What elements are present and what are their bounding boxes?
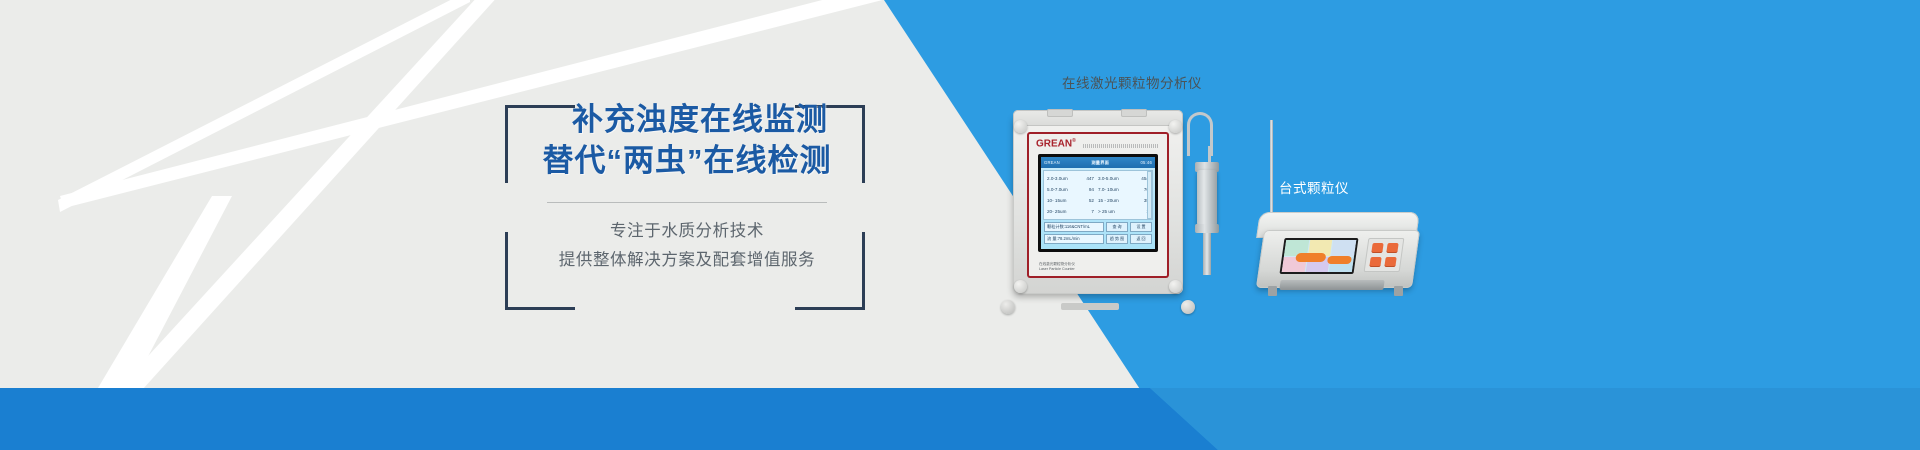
sensor-cap-bottom	[1195, 224, 1219, 233]
subtitle-line-2: 提供整体解决方案及配套增值服务	[497, 246, 877, 275]
lcd-control-row-2: 流 量:78.2mL/min 趋 势 图 返 回	[1044, 234, 1152, 244]
table-row: 2.0-3.0um 447 3.0-5.0um 454	[1047, 173, 1149, 184]
headline-line-2: 替代“两虫”在线检测	[497, 140, 877, 181]
bench-lcd-highlight-2	[1327, 256, 1352, 264]
cell-count-1: 447	[1082, 173, 1098, 184]
cell-range-1: 2.0-3.0um	[1047, 173, 1082, 184]
bench-stand-rod	[1270, 120, 1273, 216]
bench-key-2[interactable]	[1386, 243, 1398, 253]
bench-lcd-tile-3	[1331, 240, 1356, 256]
cell-count-1: 7	[1082, 206, 1098, 217]
sensor-tube-assembly	[1180, 112, 1220, 290]
bench-lcd-highlight-1	[1295, 253, 1326, 262]
lcd-statusbar: GREAN 测量界面 05:46	[1041, 157, 1155, 168]
headline-card: 补充浊度在线监测 替代“两虫”在线检测 专注于水质分析技术 提供整体解决方案及配…	[505, 105, 865, 310]
cell-range-1: 20- 25um	[1047, 206, 1082, 217]
online-laser-particle-analyzer: GREAN® GREAN 测量界面 05:46 2.0-3.0um 447 3.…	[1005, 102, 1191, 306]
table-row: 5.0-7.0um 94 7.0- 10um 76	[1047, 184, 1149, 195]
bench-foot-right	[1394, 286, 1403, 296]
cell-range-2: 15 - 20um	[1098, 195, 1133, 206]
cell-range-1: 10- 15um	[1047, 195, 1082, 206]
lcd-button-back[interactable]: 返 回	[1130, 234, 1152, 244]
table-row: 10- 15um 52 15 - 20um 35	[1047, 195, 1149, 206]
lcd-field-particle-count: 颗粒计数:116&CNT/mL	[1044, 222, 1104, 232]
bench-foot-left	[1268, 286, 1277, 296]
table-row: 20- 25um 7 > 25 um 1	[1047, 206, 1149, 217]
cell-range-2: 7.0- 10um	[1098, 184, 1133, 195]
analyzer-display-bezel: GREAN 测量界面 05:46 2.0-3.0um 447 3.0-5.0um…	[1038, 154, 1158, 252]
analyzer-clip-right	[1121, 109, 1147, 117]
analyzer-front-panel: GREAN® GREAN 测量界面 05:46 2.0-3.0um 447 3.…	[1027, 132, 1169, 278]
analyzer-brand: GREAN®	[1036, 138, 1076, 149]
lcd-status-right: 05:46	[1141, 160, 1152, 165]
sensor-housing	[1197, 170, 1217, 226]
lcd-control-row-1: 颗粒计数:116&CNT/mL 查 询 设 置	[1044, 222, 1152, 232]
analyzer-screw-top-left	[1014, 120, 1027, 133]
bench-key-3[interactable]	[1369, 257, 1381, 267]
bench-keypad[interactable]	[1364, 238, 1405, 272]
analyzer-screw-bottom-left	[1014, 280, 1027, 293]
cell-count-1: 52	[1082, 195, 1098, 206]
lcd-field-flowrate: 流 量:78.2mL/min	[1044, 234, 1104, 244]
lcd-measurement-table: 2.0-3.0um 447 3.0-5.0um 454 5.0-7.0um 94…	[1043, 170, 1153, 220]
analyzer-brand-mark: ®	[1072, 138, 1076, 144]
sensor-outlet-pipe	[1203, 233, 1211, 275]
cell-count-1: 94	[1082, 184, 1098, 195]
bench-lcd[interactable]	[1282, 240, 1356, 272]
headline-line-1: 补充浊度在线监测	[497, 99, 877, 140]
analyzer-clip-left	[1047, 109, 1073, 117]
analyzer-cable-gland-right	[1181, 300, 1195, 314]
subtitle-line-1: 专注于水质分析技术	[497, 217, 877, 246]
lcd-status-left: GREAN	[1044, 160, 1060, 165]
analyzer-cable-gland-left	[1001, 300, 1015, 314]
cell-range-1: 5.0-7.0um	[1047, 184, 1082, 195]
subtitle: 专注于水质分析技术 提供整体解决方案及配套增值服务	[497, 217, 877, 275]
analyzer-nameplate-en: Laser Particle Counter	[1039, 267, 1075, 272]
analyzer-lid	[1013, 110, 1183, 126]
benchtop-particle-counter	[1258, 212, 1418, 312]
lcd-status-title: 测量界面	[1091, 160, 1109, 166]
lcd-button-query[interactable]: 查 询	[1106, 222, 1128, 232]
analyzer-lcd[interactable]: GREAN 测量界面 05:46 2.0-3.0um 447 3.0-5.0um…	[1041, 157, 1155, 249]
bench-sample-tray	[1279, 280, 1384, 290]
headline: 补充浊度在线监测 替代“两虫”在线检测	[497, 99, 877, 181]
analyzer-brand-text: GREAN	[1036, 138, 1072, 149]
lcd-controls: 颗粒计数:116&CNT/mL 查 询 设 置 流 量:78.2mL/min 趋…	[1044, 222, 1152, 244]
bench-key-1[interactable]	[1371, 243, 1383, 253]
lcd-scrollbar[interactable]	[1147, 171, 1152, 219]
bench-display-bezel	[1279, 238, 1358, 274]
headline-divider	[547, 202, 827, 203]
lcd-button-settings[interactable]: 设 置	[1130, 222, 1152, 232]
cell-range-2: 3.0-5.0um	[1098, 173, 1133, 184]
bench-key-4[interactable]	[1384, 257, 1396, 267]
analyzer-brand-stripe	[1083, 144, 1159, 148]
bench-label: 台式颗粒仪	[1279, 177, 1349, 197]
analyzer-label: 在线激光颗粒物分析仪	[1062, 72, 1202, 92]
banner-root: 补充浊度在线监测 替代“两虫”在线检测 专注于水质分析技术 提供整体解决方案及配…	[0, 0, 1920, 450]
bottom-blue-band	[0, 0, 1920, 450]
lcd-button-trend[interactable]: 趋 势 图	[1106, 234, 1128, 244]
cell-range-2: > 25 um	[1098, 206, 1133, 217]
analyzer-nameplate: 在线激光颗粒物分析仪 Laser Particle Counter	[1039, 262, 1075, 272]
analyzer-bottom-port	[1061, 303, 1119, 310]
